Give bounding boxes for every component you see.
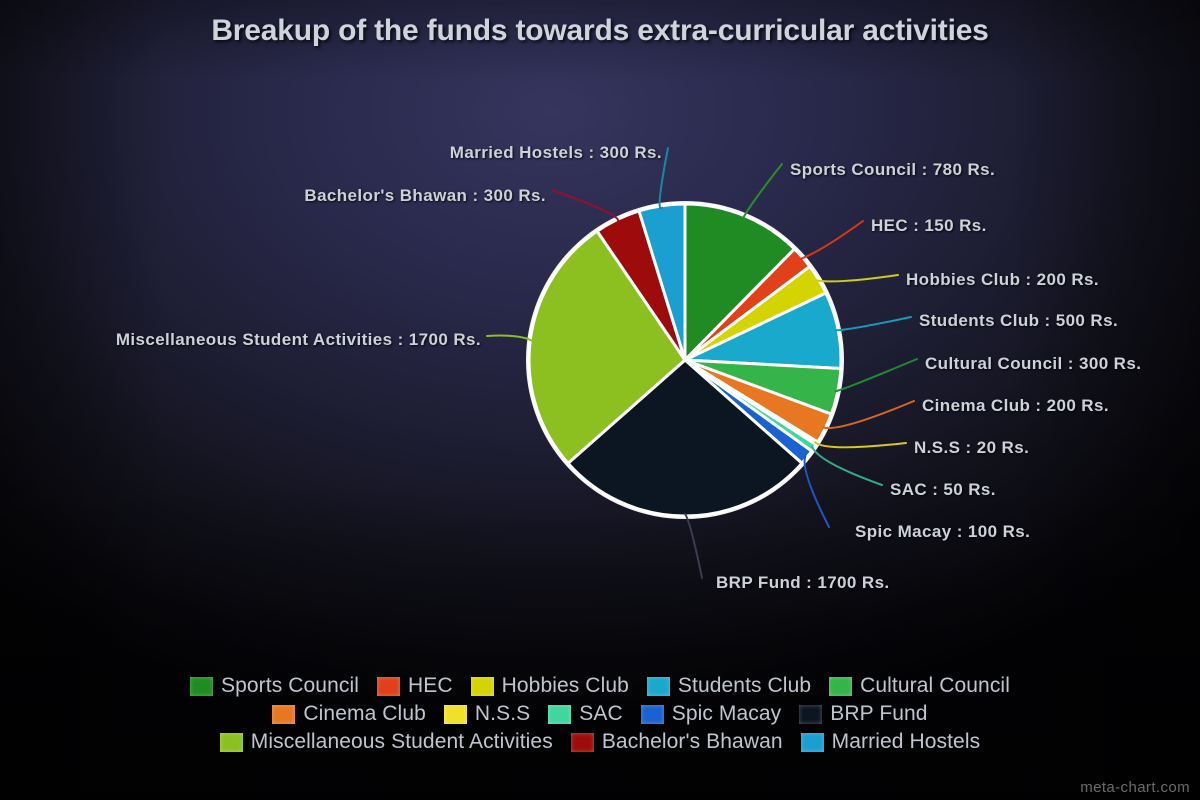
- leader-line-hobbies-club: [817, 275, 898, 281]
- legend-item-cinema-club[interactable]: Cinema Club: [272, 702, 426, 726]
- legend-label: Bachelor's Bhawan: [602, 730, 783, 754]
- legend-swatch-icon: [829, 677, 852, 696]
- leader-line-students-club: [836, 317, 911, 330]
- legend-swatch-icon: [220, 733, 243, 752]
- callout-label-married-hostels: Married Hostels : 300 Rs.: [450, 143, 662, 163]
- callout-label-hec: HEC : 150 Rs.: [871, 216, 987, 236]
- callout-label-spic-macay: Spic Macay : 100 Rs.: [855, 522, 1030, 542]
- callout-label-miscellaneous: Miscellaneous Student Activities : 1700 …: [116, 330, 481, 350]
- legend-row: Sports CouncilHECHobbies ClubStudents Cl…: [0, 672, 1200, 700]
- legend-label: Students Club: [678, 674, 811, 698]
- legend-row: Cinema ClubN.S.SSACSpic MacayBRP Fund: [0, 700, 1200, 728]
- legend-item-n-s-s[interactable]: N.S.S: [444, 702, 530, 726]
- legend-item-sac[interactable]: SAC: [548, 702, 622, 726]
- legend-item-married-hostels[interactable]: Married Hostels: [801, 730, 981, 754]
- callout-label-hobbies-club: Hobbies Club : 200 Rs.: [906, 270, 1099, 290]
- legend-swatch-icon: [641, 705, 664, 724]
- callout-label-brp-fund: BRP Fund : 1700 Rs.: [716, 573, 890, 593]
- legend-item-hec[interactable]: HEC: [377, 674, 453, 698]
- leader-line-brp-fund: [685, 514, 702, 578]
- callout-label-students-club: Students Club : 500 Rs.: [919, 311, 1118, 331]
- leader-line-cultural-council: [836, 359, 917, 391]
- legend-swatch-icon: [647, 677, 670, 696]
- legend-label: Hobbies Club: [502, 674, 629, 698]
- watermark: meta-chart.com: [1080, 779, 1190, 796]
- legend-label: Sports Council: [221, 674, 359, 698]
- legend-item-miscellaneous-student-activities[interactable]: Miscellaneous Student Activities: [220, 730, 553, 754]
- leader-line-miscellaneous-student-activities: [487, 336, 532, 341]
- legend: Sports CouncilHECHobbies ClubStudents Cl…: [0, 672, 1200, 756]
- legend-swatch-icon: [571, 733, 594, 752]
- leader-line-bachelor-s-bhawan: [552, 190, 618, 221]
- legend-label: Cultural Council: [860, 674, 1010, 698]
- leader-line-n-s-s: [815, 442, 906, 447]
- legend-label: Miscellaneous Student Activities: [251, 730, 553, 754]
- callout-label-bachelors-bhawan: Bachelor's Bhawan : 300 Rs.: [304, 186, 546, 206]
- legend-item-bachelor-s-bhawan[interactable]: Bachelor's Bhawan: [571, 730, 783, 754]
- leader-line-spic-macay: [805, 456, 829, 527]
- legend-swatch-icon: [444, 705, 467, 724]
- legend-label: Cinema Club: [303, 702, 426, 726]
- legend-item-cultural-council[interactable]: Cultural Council: [829, 674, 1010, 698]
- callout-label-sac: SAC : 50 Rs.: [890, 480, 996, 500]
- legend-item-hobbies-club[interactable]: Hobbies Club: [471, 674, 629, 698]
- legend-row: Miscellaneous Student ActivitiesBachelor…: [0, 728, 1200, 756]
- page-title: Breakup of the funds towards extra-curri…: [0, 14, 1200, 48]
- legend-label: Spic Macay: [672, 702, 782, 726]
- pie-chart-canvas: Breakup of the funds towards extra-curri…: [0, 0, 1200, 800]
- legend-swatch-icon: [272, 705, 295, 724]
- legend-label: Married Hostels: [832, 730, 981, 754]
- callout-label-cinema-club: Cinema Club : 200 Rs.: [922, 396, 1109, 416]
- callout-label-nss: N.S.S : 20 Rs.: [914, 438, 1029, 458]
- legend-swatch-icon: [471, 677, 494, 696]
- legend-item-sports-council[interactable]: Sports Council: [190, 674, 359, 698]
- legend-label: BRP Fund: [830, 702, 927, 726]
- legend-swatch-icon: [548, 705, 571, 724]
- legend-swatch-icon: [801, 733, 824, 752]
- legend-swatch-icon: [190, 677, 213, 696]
- legend-label: HEC: [408, 674, 453, 698]
- legend-swatch-icon: [799, 705, 822, 724]
- legend-item-brp-fund[interactable]: BRP Fund: [799, 702, 927, 726]
- legend-label: N.S.S: [475, 702, 530, 726]
- callout-label-sports-council: Sports Council : 780 Rs.: [790, 160, 995, 180]
- legend-item-students-club[interactable]: Students Club: [647, 674, 811, 698]
- leader-line-sac: [812, 447, 882, 485]
- legend-swatch-icon: [377, 677, 400, 696]
- legend-label: SAC: [579, 702, 622, 726]
- callout-label-cultural-council: Cultural Council : 300 Rs.: [925, 354, 1141, 374]
- leader-line-hec: [801, 221, 863, 259]
- legend-item-spic-macay[interactable]: Spic Macay: [641, 702, 782, 726]
- leader-line-sports-council: [743, 164, 782, 218]
